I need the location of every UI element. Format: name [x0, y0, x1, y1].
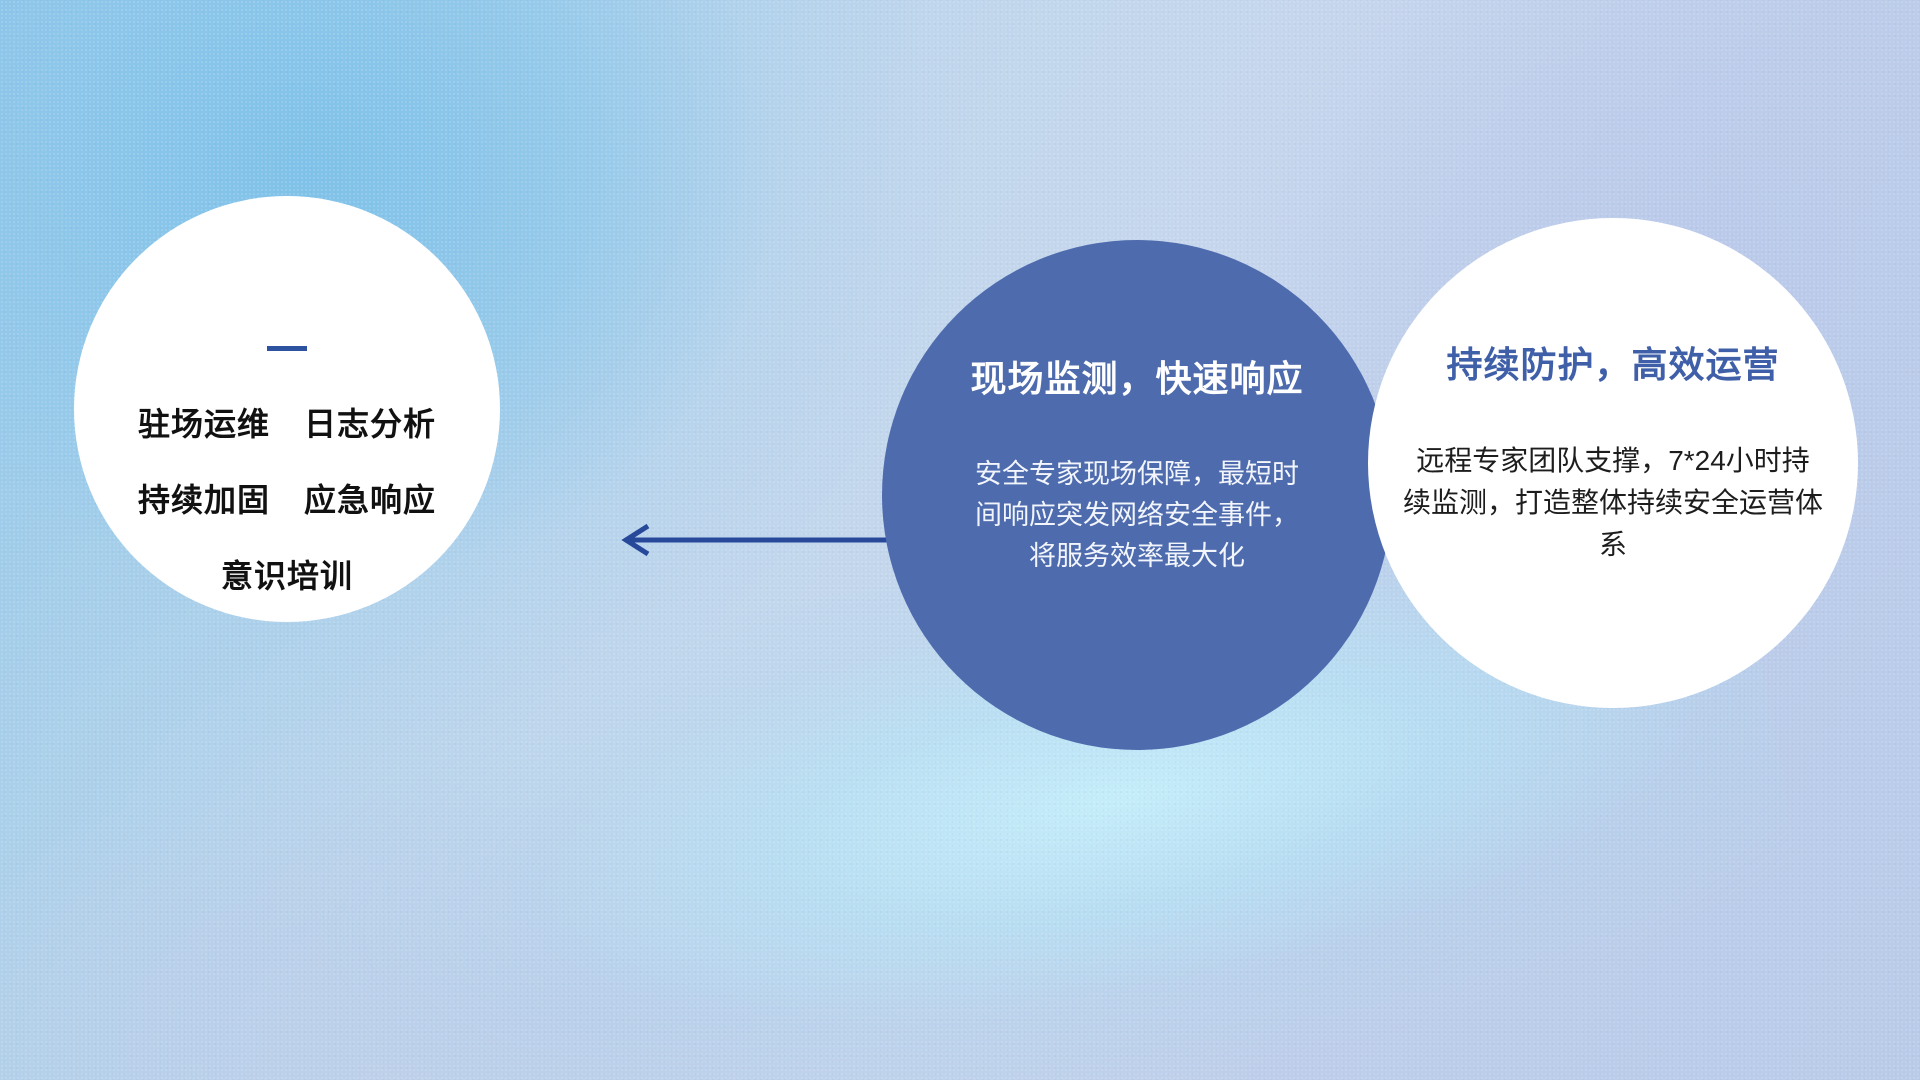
- feature-body: 远程专家团队支撑，7*24小时持续监测，打造整体持续安全运营体系: [1403, 440, 1823, 566]
- capability-list: 驻场运维 日志分析 持续加固 应急响应 意识培训: [138, 399, 436, 597]
- feature-circle-continuous[interactable]: 持续防护，高效运营 远程专家团队支撑，7*24小时持续监测，打造整体持续安全运营…: [1368, 218, 1858, 708]
- feature-title: 持续防护，高效运营: [1446, 336, 1779, 388]
- feature-body: 安全专家现场保障，最短时间响应突发网络安全事件，将服务效率最大化: [972, 454, 1302, 577]
- capability-item: 日志分析: [304, 399, 436, 445]
- capability-row: 驻场运维 日志分析: [138, 399, 436, 445]
- capability-item: 驻场运维: [138, 399, 270, 445]
- feature-circle-onsite[interactable]: 现场监测，快速响应 安全专家现场保障，最短时间响应突发网络安全事件，将服务效率最…: [882, 240, 1392, 750]
- divider-dash-icon: [267, 346, 307, 351]
- capability-item: 持续加固: [138, 475, 270, 521]
- capability-circle-left[interactable]: 驻场运维 日志分析 持续加固 应急响应 意识培训: [74, 196, 500, 622]
- feature-title: 现场监测，快速响应: [970, 350, 1303, 402]
- arrow-left-icon: [604, 512, 904, 568]
- capability-row: 意识培训: [221, 551, 353, 597]
- slide-canvas: 驻场运维 日志分析 持续加固 应急响应 意识培训 现场监测，快速响应 安全专家现…: [0, 0, 1920, 1080]
- capability-item: 意识培训: [221, 551, 353, 597]
- capability-item: 应急响应: [304, 475, 436, 521]
- capability-row: 持续加固 应急响应: [138, 475, 436, 521]
